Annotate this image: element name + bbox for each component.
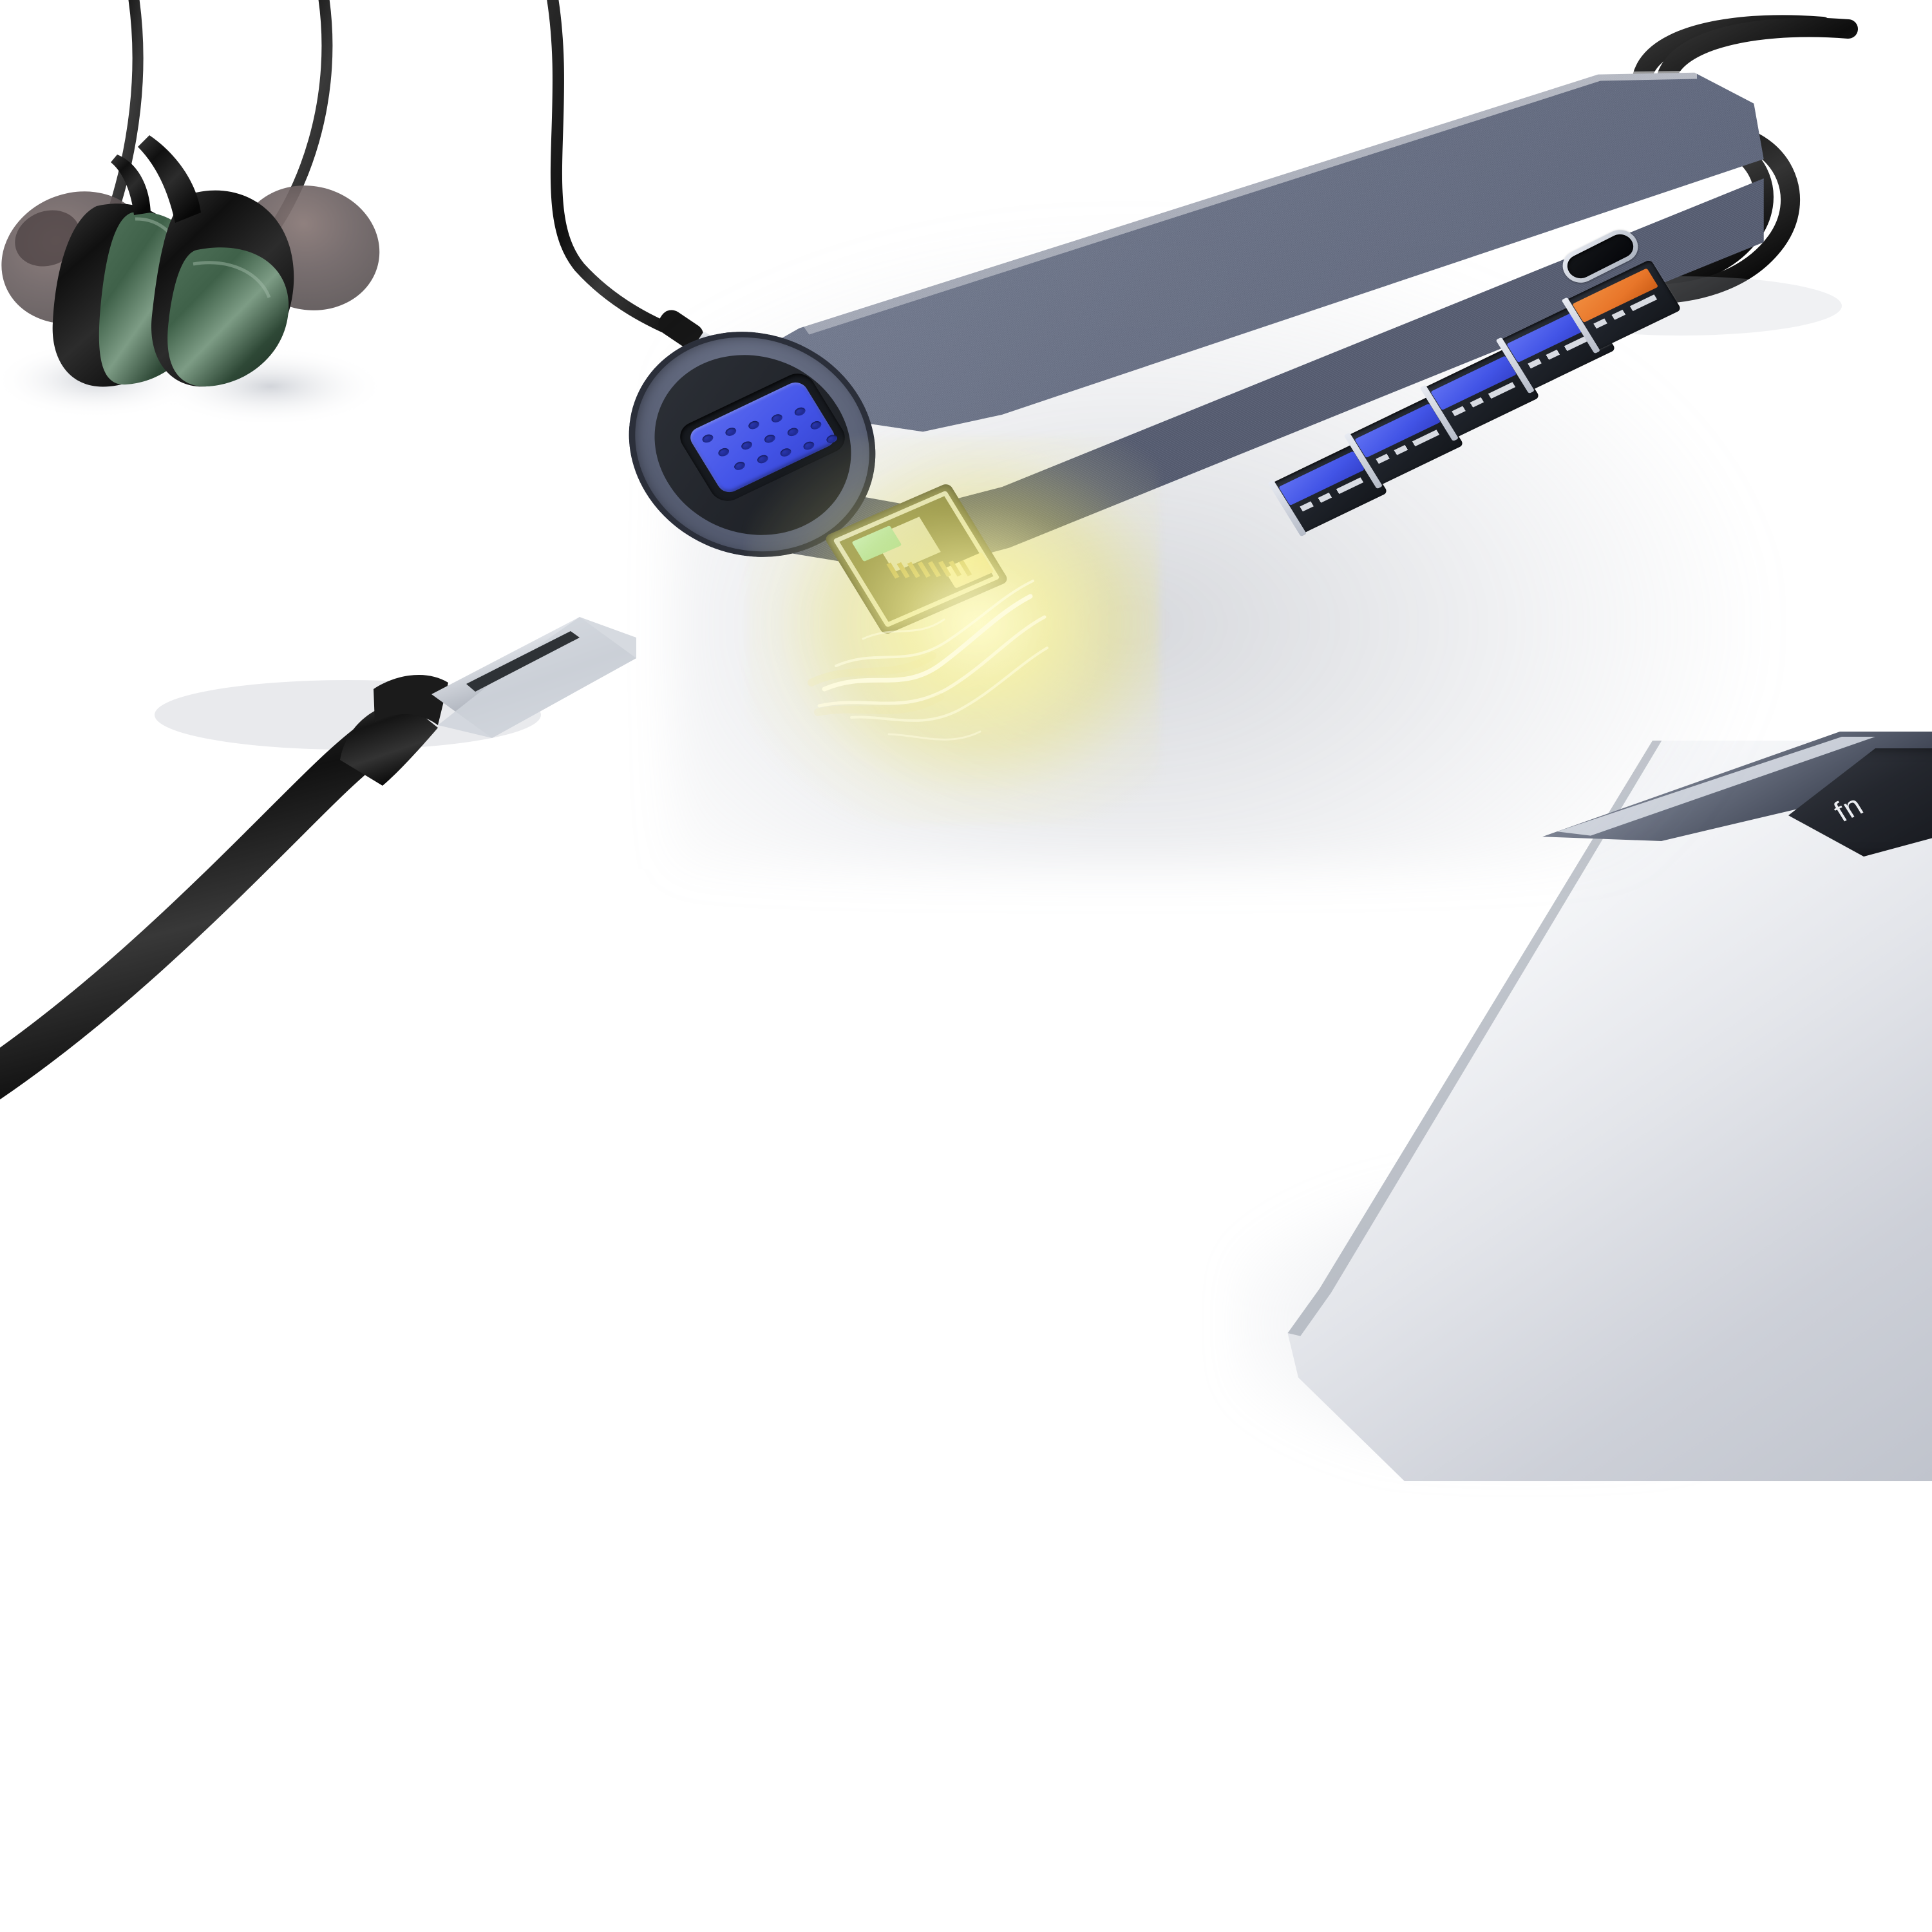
product-feature-banner: fn	[0, 0, 1932, 1932]
ethernet-rj45-plug[interactable]	[340, 617, 636, 786]
earbud-right	[138, 135, 393, 386]
ethernet-cable-svg	[0, 367, 953, 1333]
feature-text-block: Mic/Audio Provides HD lossless sound qua…	[0, 1404, 1932, 1932]
ethernet-cable	[0, 741, 374, 1108]
usb-c-hub	[631, 64, 1868, 966]
